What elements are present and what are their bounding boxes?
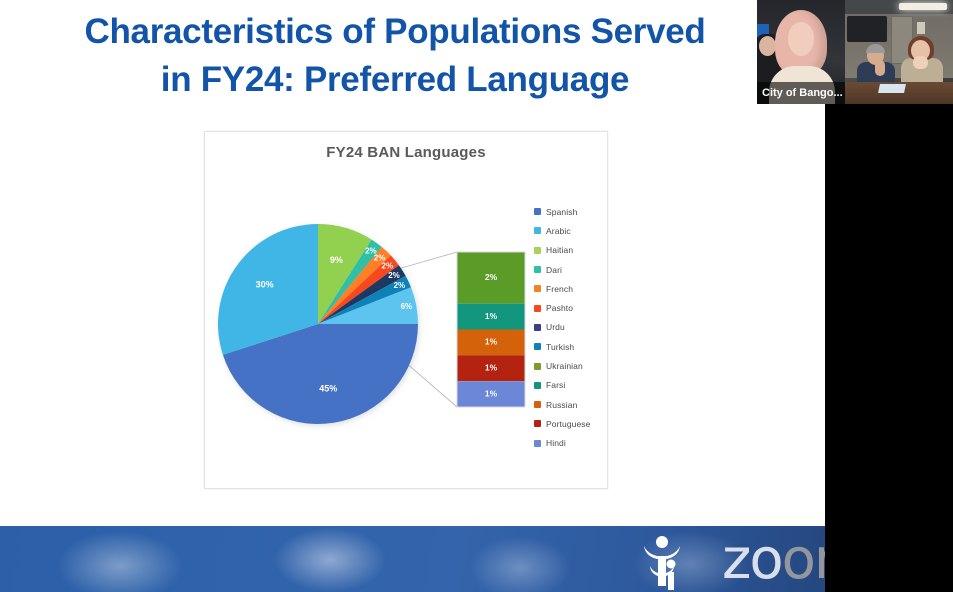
legend-label: Dari bbox=[546, 265, 562, 275]
pie-slice-label: 45% bbox=[319, 384, 337, 394]
legend-item[interactable]: Spanish bbox=[534, 202, 612, 221]
legend-label: Arabic bbox=[546, 226, 571, 236]
legend-swatch-icon bbox=[534, 247, 541, 254]
shared-screen-slide: Characteristics of Populations Served in… bbox=[0, 0, 825, 592]
zoom-watermark: zoom bbox=[722, 530, 825, 590]
legend-label: Spanish bbox=[546, 207, 577, 217]
legend-label: Farsi bbox=[546, 380, 565, 390]
page-title-line-1: Characteristics of Populations Served bbox=[0, 8, 790, 56]
legend-item[interactable]: Russian bbox=[534, 395, 612, 414]
participant-2-hands bbox=[913, 56, 928, 69]
legend-item[interactable]: Ukrainian bbox=[534, 356, 612, 375]
legend-swatch-icon bbox=[534, 401, 541, 408]
legend-swatch-icon bbox=[534, 285, 541, 292]
pie-slice-label: 2% bbox=[388, 271, 400, 280]
bar-segment-label: 1% bbox=[485, 388, 498, 398]
chart-legend: SpanishArabicHaitianDariFrenchPashtoUrdu… bbox=[534, 202, 612, 453]
pie-slice-label: 30% bbox=[256, 280, 274, 290]
legend-label: Turkish bbox=[546, 342, 574, 352]
pie-slice-label: 2% bbox=[394, 281, 406, 290]
legend-item[interactable]: French bbox=[534, 279, 612, 298]
legend-swatch-icon bbox=[534, 343, 541, 350]
speaker-face bbox=[788, 22, 814, 56]
wall-panel bbox=[917, 22, 925, 34]
pie-slice-label: 2% bbox=[382, 262, 394, 271]
legend-swatch-icon bbox=[534, 324, 541, 331]
legend-item[interactable]: Hindi bbox=[534, 434, 612, 453]
paper-on-table bbox=[878, 84, 906, 93]
pie-slice-label: 9% bbox=[330, 255, 343, 265]
legend-label: Haitian bbox=[546, 245, 573, 255]
legend-item[interactable]: Farsi bbox=[534, 376, 612, 395]
page-title-line-2: in FY24: Preferred Language bbox=[0, 56, 790, 104]
chart-panel: FY24 BAN Languages 9%2%2%2%2%2%6%45%30% bbox=[204, 131, 608, 489]
zoom-watermark-light: zo bbox=[722, 527, 782, 592]
wall-monitor bbox=[847, 16, 887, 42]
pie-slice-label: 6% bbox=[401, 302, 413, 311]
legend-swatch-icon bbox=[534, 363, 541, 370]
legend-item[interactable]: Haitian bbox=[534, 241, 612, 260]
bottom-photo-banner bbox=[0, 526, 825, 592]
zoom-watermark-dim: om bbox=[782, 527, 825, 592]
legend-label: Pashto bbox=[546, 303, 573, 313]
video-tile-active-speaker[interactable]: City of Bango... bbox=[757, 0, 845, 104]
legend-swatch-icon bbox=[534, 227, 541, 234]
legend-item[interactable]: Urdu bbox=[534, 318, 612, 337]
legend-swatch-icon bbox=[534, 440, 541, 447]
legend-item[interactable]: Turkish bbox=[534, 337, 612, 356]
legend-swatch-icon bbox=[534, 266, 541, 273]
ceiling-light bbox=[899, 3, 947, 10]
legend-label: Russian bbox=[546, 400, 577, 410]
legend-swatch-icon bbox=[534, 305, 541, 312]
bar-segment-label: 2% bbox=[485, 272, 498, 282]
bar-segment-label: 1% bbox=[485, 363, 498, 373]
video-tile-1-label: City of Bango... bbox=[757, 82, 845, 104]
legend-swatch-icon bbox=[534, 382, 541, 389]
legend-label: Hindi bbox=[546, 438, 566, 448]
video-thumbnail-strip: City of Bango... bbox=[757, 0, 953, 104]
legend-label: Urdu bbox=[546, 322, 565, 332]
legend-label: Portuguese bbox=[546, 419, 590, 429]
legend-label: French bbox=[546, 284, 573, 294]
legend-item[interactable]: Pashto bbox=[534, 298, 612, 317]
legend-label: Ukrainian bbox=[546, 361, 583, 371]
video-tile-room[interactable] bbox=[845, 0, 953, 104]
participant-1-arm bbox=[875, 60, 885, 76]
legend-item[interactable]: Dari bbox=[534, 260, 612, 279]
page-title: Characteristics of Populations Served in… bbox=[0, 8, 790, 104]
legend-swatch-icon bbox=[534, 420, 541, 427]
bar-segment-label: 1% bbox=[485, 337, 498, 347]
background-person-face bbox=[759, 36, 776, 56]
bar-segment-label: 1% bbox=[485, 311, 498, 321]
agency-logo-icon bbox=[636, 530, 688, 590]
legend-item[interactable]: Portuguese bbox=[534, 414, 612, 433]
legend-item[interactable]: Arabic bbox=[534, 221, 612, 240]
legend-swatch-icon bbox=[534, 208, 541, 215]
pie-slices bbox=[218, 224, 418, 424]
